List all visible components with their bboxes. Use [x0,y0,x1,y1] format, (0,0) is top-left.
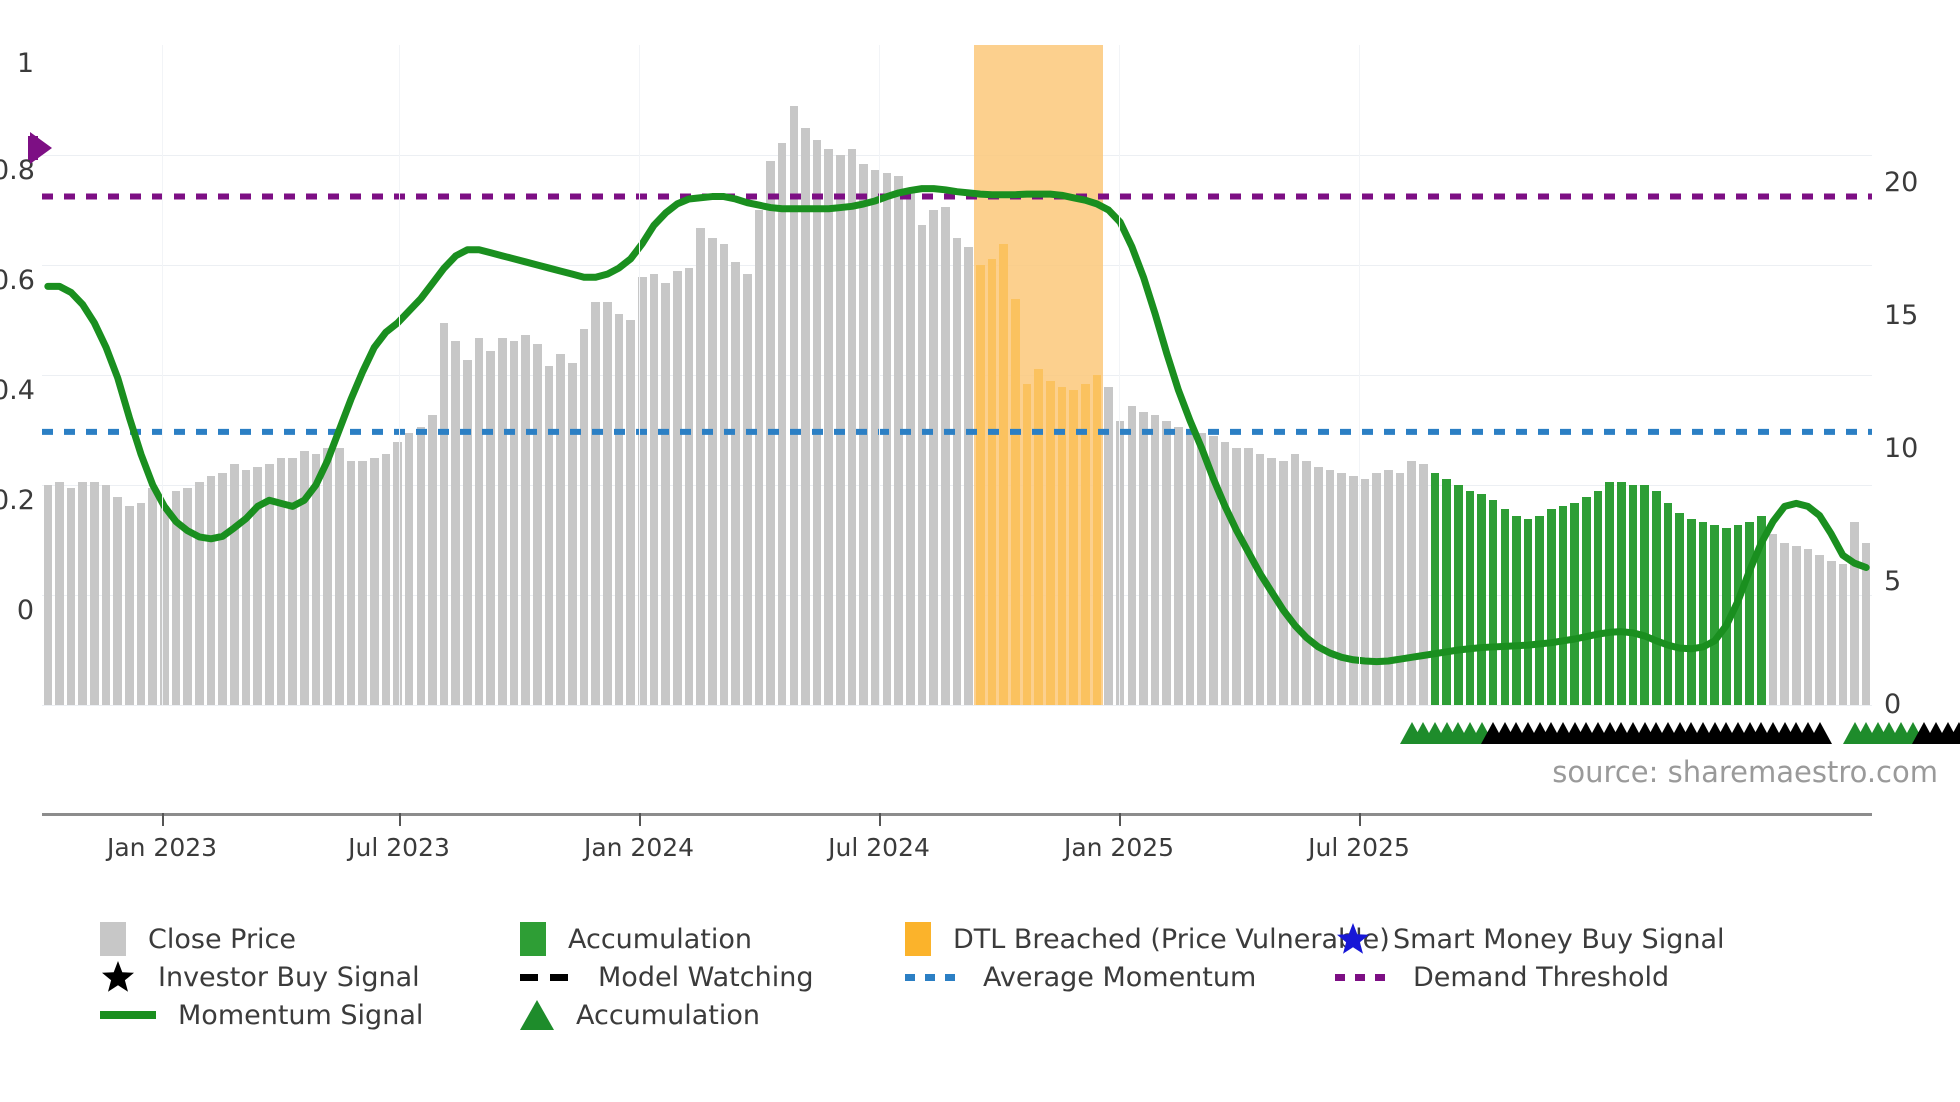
source-watermark: source: sharemaestro.com [1552,755,1938,789]
investor-buy-signal-marker [1912,722,1936,744]
legend: Close Price Accumulation DTL Breached (P… [100,920,1940,1034]
legend-item-smart-money-buy-signal[interactable]: Smart Money Buy Signal [1335,921,1775,957]
accumulation-triangle-marker [1400,722,1424,744]
legend-row: Investor Buy Signal Model Watching Avera… [100,958,1940,996]
investor-buy-signal-marker [1738,722,1762,744]
investor-buy-signal-marker [1504,722,1528,744]
investor-buy-signal-marker [1633,722,1657,744]
accumulation-triangle-marker [1901,722,1925,744]
investor-buy-signal-marker [1621,722,1645,744]
investor-buy-signal-marker [1691,722,1715,744]
accumulation-triangle-marker [1854,722,1878,744]
green-square-icon [520,922,546,956]
accumulation-triangle-marker [1843,722,1867,744]
grey-square-icon [100,922,126,956]
legend-label: Demand Threshold [1413,962,1669,993]
investor-buy-signal-marker [1714,722,1738,744]
y-axis-left-label: 1 [0,48,34,79]
investor-buy-signal-marker [1598,722,1622,744]
demand-threshold-marker [26,128,66,168]
legend-label: Close Price [148,924,296,955]
blue-star-icon [1335,921,1371,957]
y-axis-right-label: 0 [1884,689,1901,720]
legend-label: Momentum Signal [178,1000,423,1031]
y-axis-right-label: 10 [1884,433,1918,464]
accumulation-triangle-marker [1435,722,1459,744]
green-triangle-icon [520,1000,554,1030]
investor-buy-signal-marker [1586,722,1610,744]
momentum-signal-line [48,189,1866,662]
y-axis-left-label: 0.6 [0,265,34,296]
investor-buy-signal-marker [1726,722,1750,744]
y-axis-left-label: 0.2 [0,485,34,516]
y-axis-right-label: 20 [1884,167,1918,198]
legend-item-model-watching[interactable]: Model Watching [520,962,905,993]
x-axis-label: Jan 2023 [107,833,217,862]
x-gridline [879,45,880,705]
investor-buy-signal-marker [1481,722,1505,744]
x-axis-tick [399,813,401,826]
investor-buy-signal-marker [1679,722,1703,744]
legend-label: Model Watching [598,962,813,993]
x-axis-line [42,813,1872,816]
x-axis-label: Jan 2024 [584,833,694,862]
y-axis-left-label: 0 [0,595,34,626]
legend-label: Smart Money Buy Signal [1393,924,1725,955]
legend-row: Close Price Accumulation DTL Breached (P… [100,920,1940,958]
legend-row: Momentum Signal Accumulation [100,996,1940,1034]
x-gridline [639,45,640,705]
green-line-icon [100,1011,156,1019]
legend-item-average-momentum[interactable]: Average Momentum [905,962,1335,993]
x-axis-tick [879,813,881,826]
series-overlay [42,45,1872,705]
x-gridline [1119,45,1120,705]
legend-label: DTL Breached (Price Vulnerable) [953,924,1390,955]
accumulation-triangle-marker [1458,722,1482,744]
legend-label: Investor Buy Signal [158,962,420,993]
investor-buy-signal-marker [1703,722,1727,744]
black-star-icon [100,959,136,995]
investor-buy-signal-marker [1924,722,1948,744]
chart-root: 1 0.8 0.6 0.4 0.2 0 20 15 10 5 0 Jan 202… [0,0,1960,1102]
investor-buy-signal-marker [1761,722,1785,744]
plot-area [42,45,1872,705]
investor-buy-signal-marker [1563,722,1587,744]
blue-dotted-line-icon [905,974,961,981]
accumulation-triangle-marker [1866,722,1890,744]
legend-label: Accumulation [576,1000,760,1031]
investor-buy-signal-marker [1796,722,1820,744]
investor-buy-signal-marker [1808,722,1832,744]
accumulation-triangle-marker [1470,722,1494,744]
investor-buy-signal-marker [1784,722,1808,744]
x-axis-label: Jul 2023 [348,833,450,862]
legend-label: Average Momentum [983,962,1256,993]
investor-buy-signal-marker [1528,722,1552,744]
investor-buy-signal-marker [1936,722,1960,744]
x-axis-label: Jul 2024 [828,833,930,862]
investor-buy-signal-marker [1493,722,1517,744]
investor-buy-signal-marker [1656,722,1680,744]
x-axis-tick [162,813,164,826]
x-gridline [399,45,400,705]
investor-buy-signal-marker [1574,722,1598,744]
purple-dotted-line-icon [1335,974,1391,981]
investor-buy-signal-marker [1773,722,1797,744]
x-axis-label: Jul 2025 [1308,833,1410,862]
x-gridline [162,45,163,705]
x-axis-tick [1119,813,1121,826]
investor-buy-signal-marker [1516,722,1540,744]
y-axis-right-label: 15 [1884,300,1918,331]
gridline [42,705,1872,706]
accumulation-triangle-marker [1446,722,1470,744]
investor-buy-signal-marker [1668,722,1692,744]
black-dashed-line-icon [520,974,576,981]
x-gridline [1359,45,1360,705]
investor-buy-signal-marker [1749,722,1773,744]
investor-buy-signal-marker [1947,722,1960,744]
y-axis-right-label: 5 [1884,566,1901,597]
accumulation-triangle-marker [1889,722,1913,744]
legend-item-momentum-signal[interactable]: Momentum Signal [100,1000,520,1031]
legend-item-close-price[interactable]: Close Price [100,922,520,956]
orange-square-icon [905,922,931,956]
x-axis-tick [639,813,641,826]
legend-item-dtl-breached[interactable]: DTL Breached (Price Vulnerable) [905,922,1335,956]
legend-item-demand-threshold[interactable]: Demand Threshold [1335,962,1775,993]
legend-item-accumulation-marker[interactable]: Accumulation [520,1000,905,1031]
investor-buy-signal-marker [1644,722,1668,744]
investor-buy-signal-marker [1539,722,1563,744]
x-axis-tick [1359,813,1361,826]
y-axis-left-label: 0.4 [0,375,34,406]
accumulation-triangle-marker [1877,722,1901,744]
investor-buy-signal-marker [1609,722,1633,744]
x-axis-label: Jan 2025 [1064,833,1174,862]
legend-label: Accumulation [568,924,752,955]
accumulation-triangle-marker [1423,722,1447,744]
accumulation-triangle-marker [1411,722,1435,744]
legend-item-investor-buy-signal[interactable]: Investor Buy Signal [100,959,520,995]
legend-item-accumulation-bar[interactable]: Accumulation [520,922,905,956]
investor-buy-signal-marker [1551,722,1575,744]
